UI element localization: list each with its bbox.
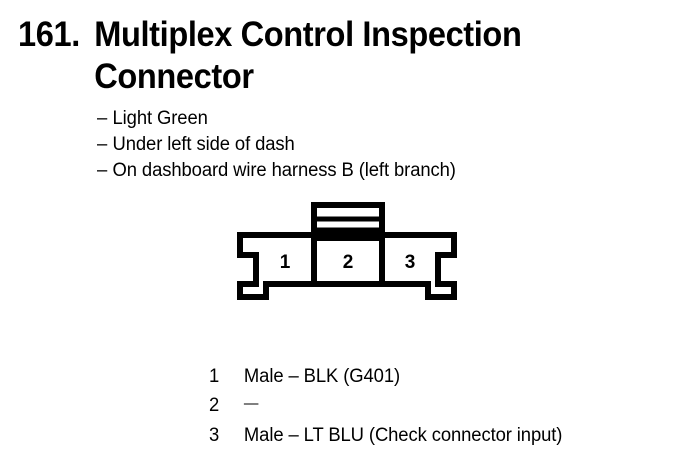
dash-bullet-icon: – [97,106,113,132]
cavity-number-2: 2 [343,252,354,273]
connector-diagram: 1 2 3 [232,200,462,305]
list-item: – On dashboard wire harness B (left bran… [97,158,640,184]
legend-pin-description: Male – LT BLU (Check connector input) [244,421,665,450]
connector-details-list: – Light Green – Under left side of dash … [97,106,657,184]
title-second-line: Connector [18,56,623,98]
pin-legend: 1 Male – BLK (G401) 2 — 3 Male – LT BLU … [209,362,679,450]
connector-outline-drawing: 1 2 3 [232,200,462,305]
legend-pin-description: — [244,389,665,418]
list-item-label: Light Green [113,106,208,132]
cavity-number-3: 3 [405,252,416,273]
legend-row: 1 Male – BLK (G401) [209,362,665,391]
list-item-label: Under left side of dash [113,132,295,158]
list-item: – Under left side of dash [97,132,640,158]
dash-bullet-icon: – [97,158,113,184]
title-first-line: 161. Multiplex Control Inspection [18,14,623,56]
manual-page: 161. Multiplex Control Inspection Connec… [0,0,688,466]
section-number: 161. [18,14,94,56]
list-item-label: On dashboard wire harness B (left branch… [113,158,456,184]
legend-pin-number: 3 [209,421,244,450]
legend-pin-number: 2 [209,391,244,420]
page-title: 161. Multiplex Control Inspection Connec… [18,14,668,98]
legend-pin-description: Male – BLK (G401) [244,362,665,391]
cavity-number-1: 1 [280,252,291,273]
title-text-line1: Multiplex Control Inspection [94,14,521,56]
dash-bullet-icon: – [97,132,113,158]
legend-pin-number: 1 [209,362,244,391]
list-item: – Light Green [97,106,640,132]
legend-row: 3 Male – LT BLU (Check connector input) [209,421,665,450]
legend-row: 2 — [209,391,665,421]
